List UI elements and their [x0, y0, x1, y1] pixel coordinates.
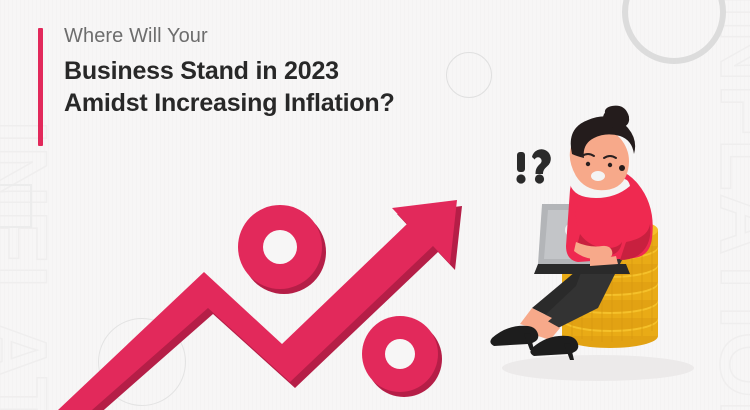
ground-shadow — [502, 355, 694, 381]
woman-on-coins-illustration — [480, 112, 720, 392]
percent-ring-upper — [238, 205, 326, 294]
accent-bar — [38, 28, 43, 146]
exclamation-question-marks — [516, 149, 550, 183]
decorative-square-left — [0, 184, 32, 228]
inflation-banner: INFLATION INFLATION Where Will Your Busi… — [0, 0, 750, 410]
eyebrow-text: Where Will Your — [64, 26, 395, 46]
page-title-line-1: Business Stand in 2023 — [64, 55, 395, 87]
percent-ring-lower — [362, 316, 442, 397]
headline-block: Where Will Your Business Stand in 2023 A… — [38, 26, 508, 146]
head — [570, 106, 635, 191]
page-title-line-2: Amidst Increasing Inflation? — [64, 87, 395, 119]
headline-text-group: Where Will Your Business Stand in 2023 A… — [64, 26, 395, 119]
upward-trend-arrow-icon — [52, 182, 482, 410]
